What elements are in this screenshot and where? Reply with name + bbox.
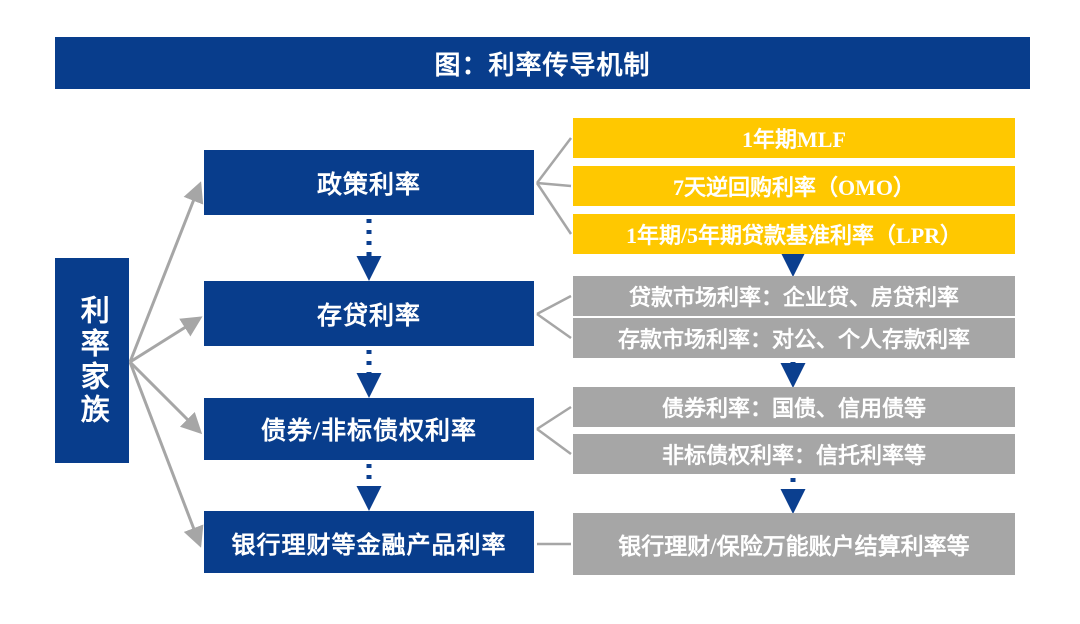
branch-policy-to-omo <box>537 183 571 186</box>
leaf-node-loan-market[interactable]: 贷款市场利率：企业贷、房贷利率 <box>573 276 1015 316</box>
node-wealth-product-rate[interactable]: 银行理财等金融产品利率 <box>204 511 534 573</box>
node-policy-rate[interactable]: 政策利率 <box>204 150 534 215</box>
leaf-node-loan-market-label: 贷款市场利率：企业贷、房贷利率 <box>629 280 959 312</box>
leaf-node-nonstandard-rate[interactable]: 非标债权利率：信托利率等 <box>573 434 1015 474</box>
root-arrow-to-deposit-loan-rate <box>130 318 200 362</box>
page-title: 图：利率传导机制 <box>434 45 650 82</box>
root-node-interest-rate-family[interactable]: 利率家族 <box>55 258 129 463</box>
branch-bond-to-bond-rate <box>537 407 571 429</box>
leaf-node-mlf-label: 1年期MLF <box>742 122 846 154</box>
root-node-label: 利率家族 <box>77 295 107 427</box>
root-arrow-to-policy-rate <box>130 184 200 362</box>
leaf-node-omo-label: 7天逆回购利率（OMO） <box>673 170 915 202</box>
chart-title-bar: 图：利率传导机制 <box>55 37 1030 89</box>
root-arrow-to-bond-nonstandard-rate <box>130 362 200 432</box>
branch-deposit-loan-to-loan-market <box>537 296 571 314</box>
diagram-canvas: 图：利率传导机制 利率家族 政策利率 存贷利率 债券/非标债权利率 银行理财等金… <box>0 0 1080 624</box>
leaf-node-lpr-label: 1年期/5年期贷款基准利率（LPR） <box>626 218 962 250</box>
branch-policy-to-mlf <box>537 138 571 183</box>
root-arrow-to-wealth-product-rate <box>130 362 200 545</box>
node-policy-rate-label: 政策利率 <box>317 165 421 201</box>
leaf-node-omo[interactable]: 7天逆回购利率（OMO） <box>573 166 1015 206</box>
leaf-node-deposit-market[interactable]: 存款市场利率：对公、个人存款利率 <box>573 318 1015 358</box>
branch-policy-to-lpr <box>537 183 571 234</box>
leaf-node-bond-rate[interactable]: 债券利率：国债、信用债等 <box>573 387 1015 427</box>
branch-bond-to-nonstandard-rate <box>537 429 571 454</box>
leaf-node-wealth-settlement-rate[interactable]: 银行理财/保险万能账户结算利率等 <box>573 513 1015 575</box>
leaf-node-wealth-settlement-rate-label: 银行理财/保险万能账户结算利率等 <box>618 527 969 561</box>
node-bond-nonstandard-rate-label: 债券/非标债权利率 <box>261 411 477 447</box>
leaf-node-lpr[interactable]: 1年期/5年期贷款基准利率（LPR） <box>573 214 1015 254</box>
root-fan-arrows <box>130 184 200 545</box>
node-bond-nonstandard-rate[interactable]: 债券/非标债权利率 <box>204 398 534 460</box>
leaf-node-nonstandard-rate-label: 非标债权利率：信托利率等 <box>662 438 926 470</box>
branch-deposit-loan-to-deposit-market <box>537 314 571 338</box>
node-wealth-product-rate-label: 银行理财等金融产品利率 <box>232 525 507 560</box>
leaf-node-mlf[interactable]: 1年期MLF <box>573 118 1015 158</box>
leaf-node-deposit-market-label: 存款市场利率：对公、个人存款利率 <box>618 322 970 354</box>
node-deposit-loan-rate-label: 存贷利率 <box>317 296 421 332</box>
leaf-node-bond-rate-label: 债券利率：国债、信用债等 <box>662 391 926 423</box>
branch-lines <box>537 138 571 544</box>
node-deposit-loan-rate[interactable]: 存贷利率 <box>204 281 534 346</box>
